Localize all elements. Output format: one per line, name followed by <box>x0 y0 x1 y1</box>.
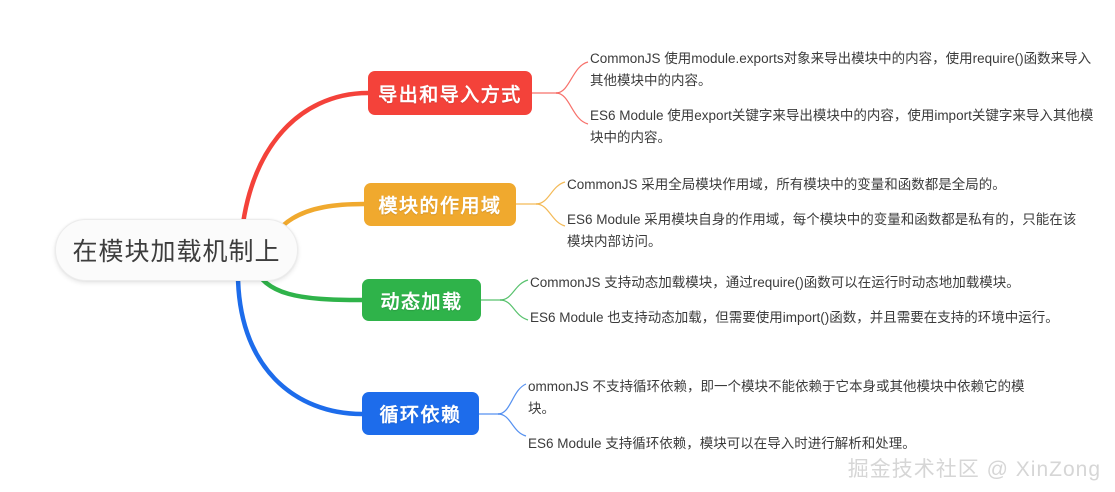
root-node[interactable]: 在模块加载机制上 <box>55 219 298 281</box>
branch-node-dynamic-loading[interactable]: 动态加载 <box>362 279 481 321</box>
branch-node-module-scope[interactable]: 模块的作用域 <box>364 183 516 226</box>
leaf-text: CommonJS 采用全局模块作用域，所有模块中的变量和函数都是全局的。 <box>567 174 1077 196</box>
leaf-group-dynamic-loading: CommonJS 支持动态加载模块，通过require()函数可以在运行时动态地… <box>530 272 1075 329</box>
leaf-group-circular-dependency: ommonJS 不支持循环依赖，即一个模块不能依赖于它本身或其他模块中依赖它的模… <box>528 376 1028 455</box>
branch-node-label: 导出和导入方式 <box>378 80 522 107</box>
edge-dynamic-loading-leaf-1 <box>500 280 528 300</box>
branch-node-export-import[interactable]: 导出和导入方式 <box>368 71 532 115</box>
branch-node-label: 模块的作用域 <box>378 191 501 218</box>
leaf-text: CommonJS 使用module.exports对象来导出模块中的内容，使用r… <box>590 48 1100 92</box>
leaf-text: CommonJS 支持动态加载模块，通过require()函数可以在运行时动态地… <box>530 272 1075 294</box>
edge-circular-dependency-leaf-1 <box>498 384 526 414</box>
branch-node-label: 循环依赖 <box>379 400 461 427</box>
edge-dynamic-loading-leaf-2 <box>500 300 528 320</box>
leaf-text: ES6 Module 使用export关键字来导出模块中的内容，使用import… <box>590 105 1100 149</box>
edge-export-import-leaf-1 <box>556 62 588 93</box>
branch-node-label: 动态加载 <box>380 287 462 314</box>
edge-root-to-circular-dependency <box>238 268 362 414</box>
leaf-group-export-import: CommonJS 使用module.exports对象来导出模块中的内容，使用r… <box>590 48 1100 148</box>
root-node-label: 在模块加载机制上 <box>72 232 280 268</box>
leaf-text: ES6 Module 采用模块自身的作用域，每个模块中的变量和函数都是私有的，只… <box>567 209 1077 253</box>
mindmap-canvas: 在模块加载机制上 导出和导入方式 CommonJS 使用module.expor… <box>0 0 1115 492</box>
edge-module-scope-leaf-2 <box>536 204 565 226</box>
leaf-group-module-scope: CommonJS 采用全局模块作用域，所有模块中的变量和函数都是全局的。 ES6… <box>567 174 1077 253</box>
edge-export-import-leaf-2 <box>556 93 588 124</box>
branch-node-circular-dependency[interactable]: 循环依赖 <box>362 392 479 435</box>
edge-module-scope-leaf-1 <box>536 182 565 204</box>
watermark: 掘金技术社区 @ XinZong <box>848 453 1101 483</box>
leaf-text: ES6 Module 也支持动态加载，但需要使用import()函数，并且需要在… <box>530 307 1075 329</box>
leaf-text: ES6 Module 支持循环依赖，模块可以在导入时进行解析和处理。 <box>528 433 1028 455</box>
leaf-text: ommonJS 不支持循环依赖，即一个模块不能依赖于它本身或其他模块中依赖它的模… <box>528 376 1028 420</box>
edge-circular-dependency-leaf-2 <box>498 414 526 436</box>
